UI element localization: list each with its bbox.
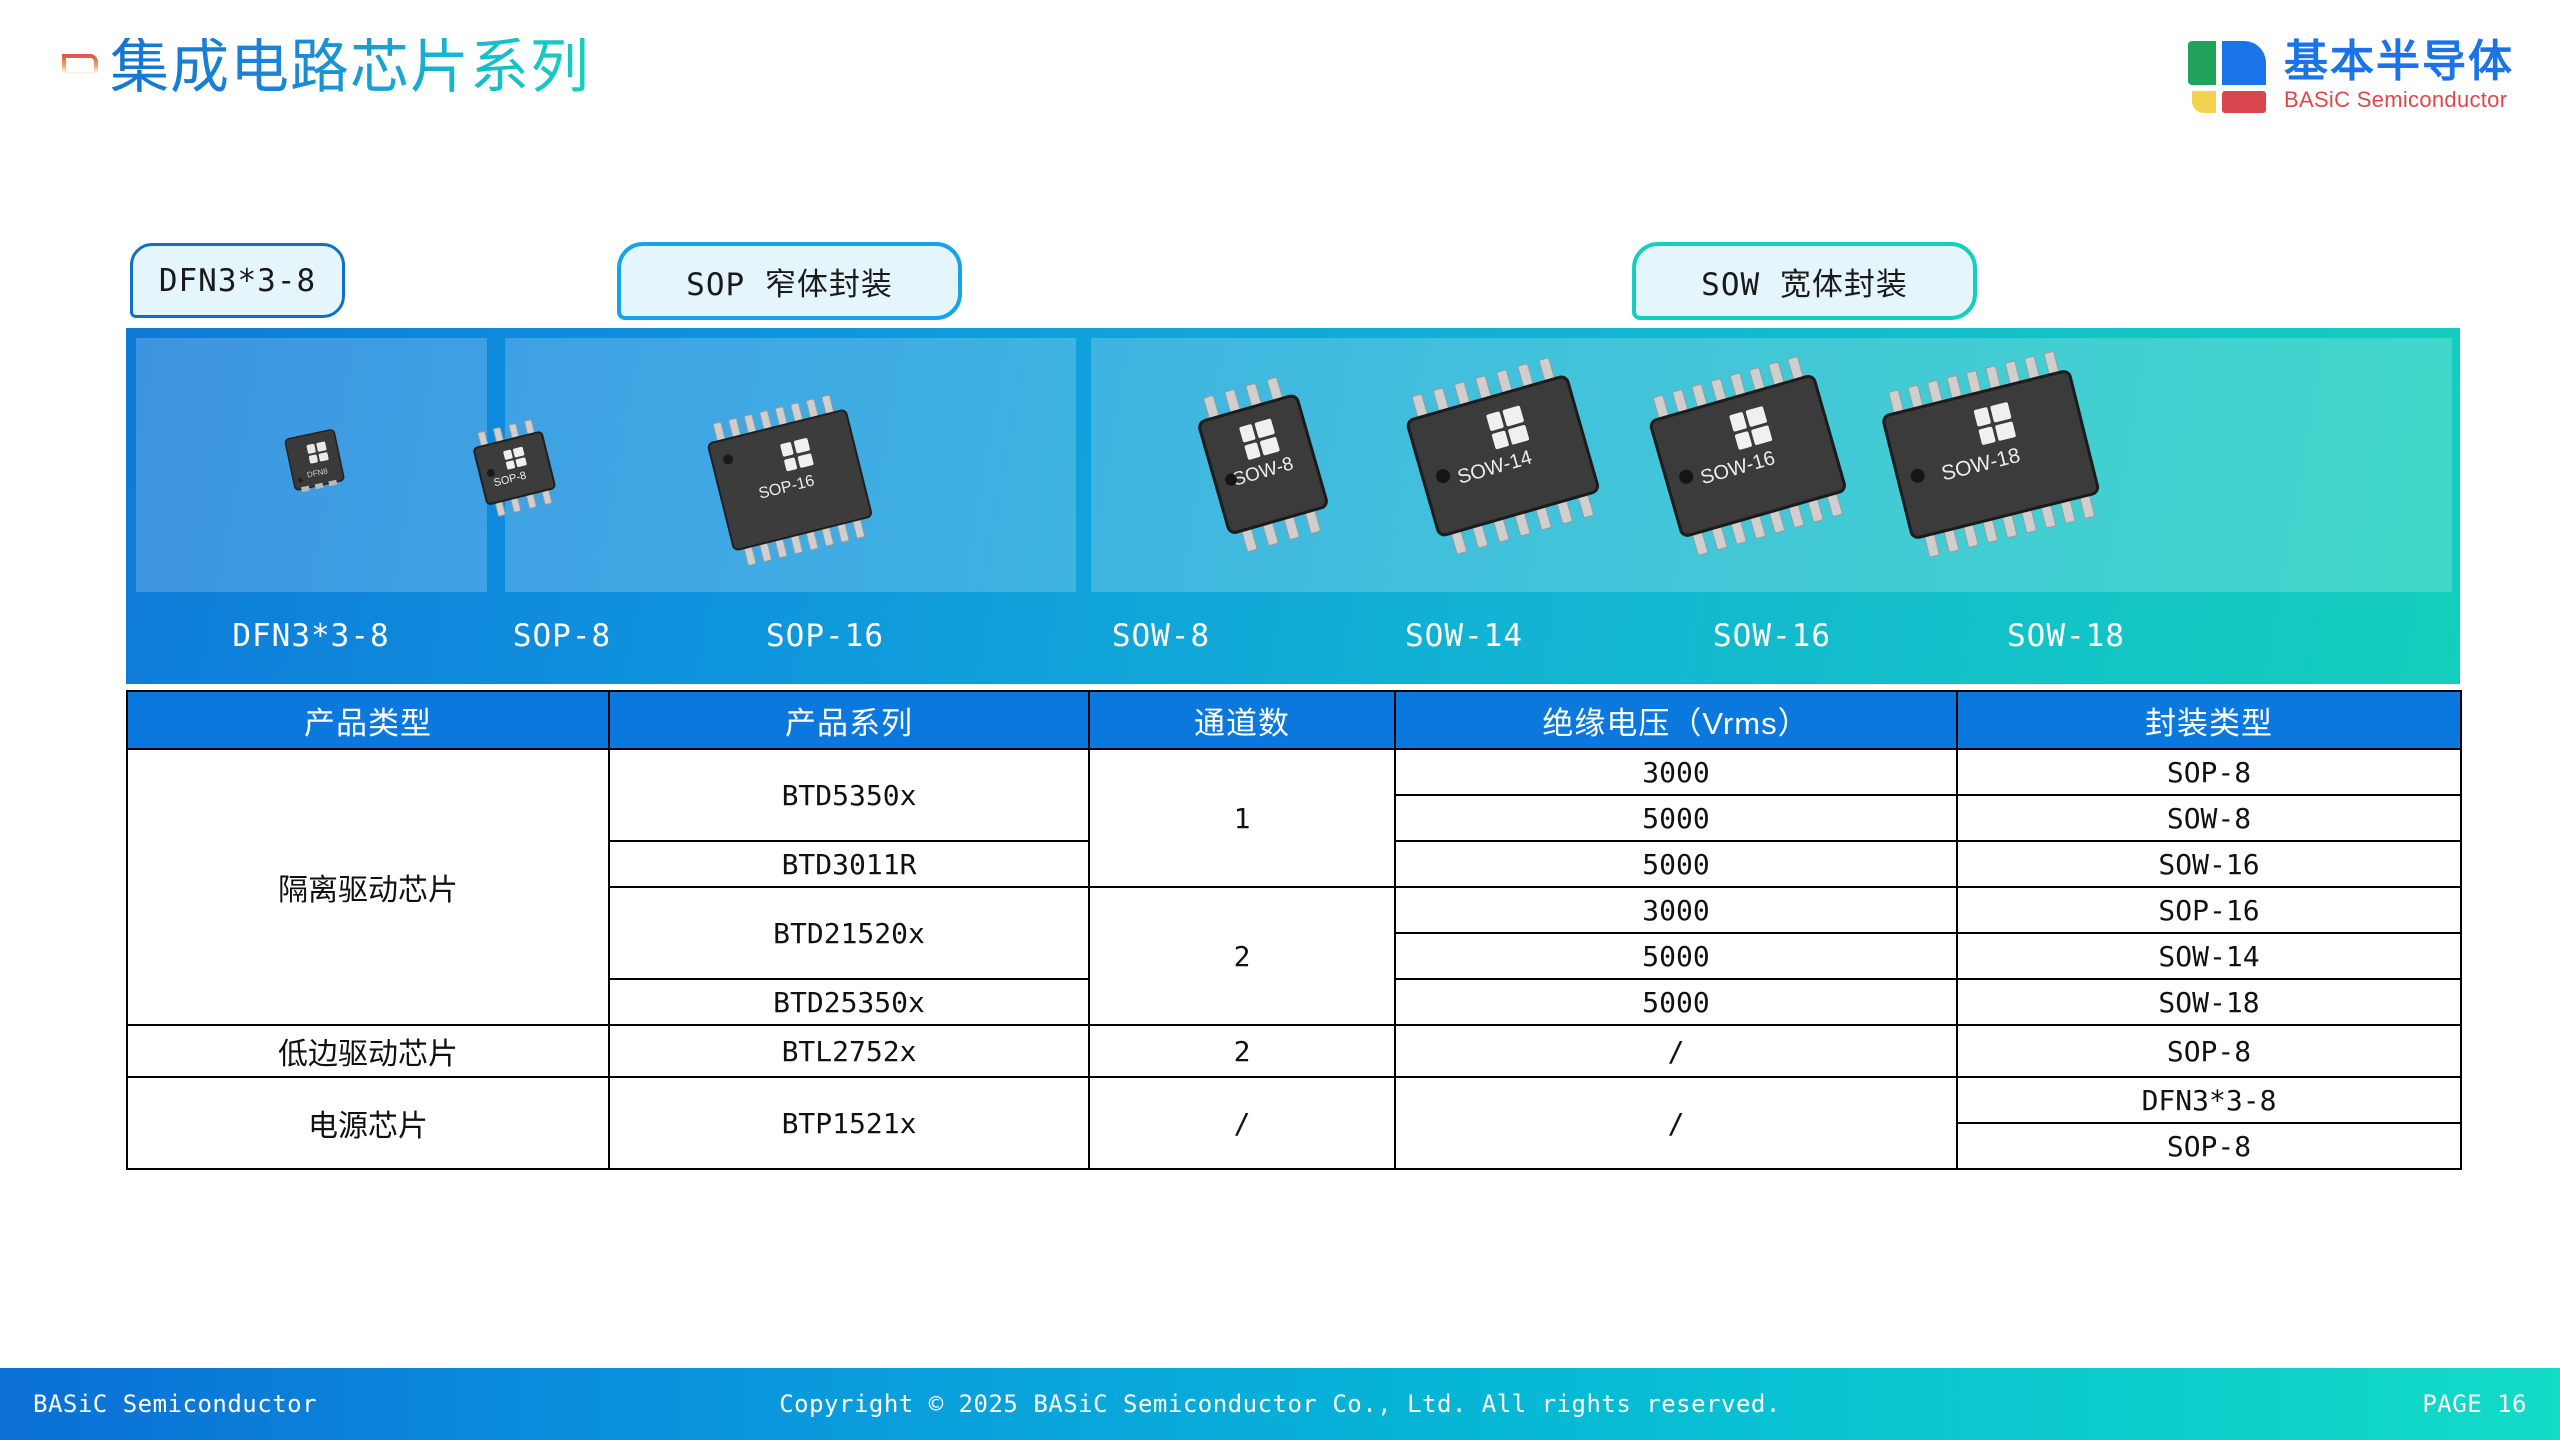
cell-series-btp1521x: BTP1521x [609,1077,1089,1169]
logo-english-name: BASiC Semiconductor [2284,87,2514,113]
cell-package-sow-8: SOW-8 [1957,795,2461,841]
pill-label-sow: SOW 宽体封装 [1632,242,1977,320]
cell-series-btd25350x: BTD25350x [609,979,1089,1025]
cell-channels-2b: 2 [1089,1025,1395,1077]
cell-voltage-5000-a: 5000 [1395,795,1957,841]
page-header: 集成电路芯片系列 基本半导体 BASiC Semiconductor [0,0,2560,150]
chip-image-sow-8: SOW-8 [1166,358,1376,568]
quote-mark-icon [60,50,100,128]
table-row: 电源芯片 BTP1521x / / DFN3*3-8 [127,1077,2461,1123]
package-showcase: DFN8 [126,328,2460,684]
cell-package-sow-16: SOW-16 [1957,841,2461,887]
cell-package-sop-16: SOP-16 [1957,887,2461,933]
product-spec-table: 产品类型 产品系列 通道数 绝缘电压（Vrms） 封装类型 隔离驱动芯片 BTD… [126,690,2462,1170]
package-label-sop-8: SOP-8 [513,618,611,654]
cell-package-sop-8-b: SOP-8 [1957,1025,2461,1077]
package-label-sow-14: SOW-14 [1405,618,1523,654]
cell-series-btd21520x: BTD21520x [609,887,1089,979]
package-label-sow-18: SOW-18 [2007,618,2125,654]
column-header-isolation-voltage: 绝缘电压（Vrms） [1395,691,1957,749]
logo-mark-icon [2186,35,2268,117]
cell-voltage-slash-1: / [1395,1025,1957,1077]
cell-product-type-lowside: 低边驱动芯片 [127,1025,609,1077]
chip-image-sow-16: SOW-16 [1616,354,1866,569]
chip-image-dfn3x3-8: DFN8 [274,420,354,504]
cell-channels-slash: / [1089,1077,1395,1169]
chip-image-sow-14: SOW-14 [1371,354,1621,569]
package-label-sow-16: SOW-16 [1713,618,1831,654]
cell-product-type-isolated: 隔离驱动芯片 [127,749,609,1025]
column-header-product-type: 产品类型 [127,691,609,749]
page-title: 集成电路芯片系列 [110,38,590,97]
cell-voltage-3000-b: 3000 [1395,887,1957,933]
column-header-channels: 通道数 [1089,691,1395,749]
cell-series-btd5350x: BTD5350x [609,749,1089,841]
table-header-row: 产品类型 产品系列 通道数 绝缘电压（Vrms） 封装类型 [127,691,2461,749]
footer-brand: BASiC Semiconductor [33,1390,317,1418]
package-label-sow-8: SOW-8 [1112,618,1210,654]
cell-channels-1: 1 [1089,749,1395,887]
cell-voltage-5000-c: 5000 [1395,933,1957,979]
footer-page-number: PAGE 16 [2422,1390,2527,1418]
cell-package-dfn3x3-8: DFN3*3-8 [1957,1077,2461,1123]
cell-product-type-power: 电源芯片 [127,1077,609,1169]
package-label-row: DFN3*3-8 SOP-8 SOP-16 SOW-8 SOW-14 SOW-1… [126,592,2460,684]
cell-voltage-slash-2: / [1395,1077,1957,1169]
title-block: 集成电路芯片系列 [60,38,590,128]
cell-series-btl2752x: BTL2752x [609,1025,1089,1077]
cell-voltage-5000-b: 5000 [1395,841,1957,887]
cell-series-btd3011r: BTD3011R [609,841,1089,887]
footer-copyright: Copyright © 2025 BASiC Semiconductor Co.… [779,1390,1781,1418]
pill-label-sop: SOP 窄体封装 [617,242,962,320]
column-header-product-series: 产品系列 [609,691,1089,749]
package-label-sop-16: SOP-16 [766,618,884,654]
logo-chinese-name: 基本半导体 [2284,39,2514,85]
column-header-package-type: 封装类型 [1957,691,2461,749]
table-row: 隔离驱动芯片 BTD5350x 1 3000 SOP-8 [127,749,2461,795]
company-logo: 基本半导体 BASiC Semiconductor [2186,35,2514,117]
package-label-dfn3x3-8: DFN3*3-8 [232,618,389,654]
chip-image-sow-18: SOW-18 [1846,350,2116,572]
cell-package-sow-18: SOW-18 [1957,979,2461,1025]
logo-text: 基本半导体 BASiC Semiconductor [2284,39,2514,113]
cell-package-sow-14: SOW-14 [1957,933,2461,979]
pill-label-dfn: DFN3*3-8 [130,243,345,318]
cell-voltage-5000-d: 5000 [1395,979,1957,1025]
cell-package-sop-8-c: SOP-8 [1957,1123,2461,1169]
page-footer: BASiC Semiconductor Copyright © 2025 BAS… [0,1368,2560,1440]
cell-voltage-3000-a: 3000 [1395,749,1957,795]
cell-channels-2: 2 [1089,887,1395,1025]
cell-package-sop-8-a: SOP-8 [1957,749,2461,795]
table-row: 低边驱动芯片 BTL2752x 2 / SOP-8 [127,1025,2461,1077]
chip-image-sop-16: SOP-16 [681,386,891,576]
